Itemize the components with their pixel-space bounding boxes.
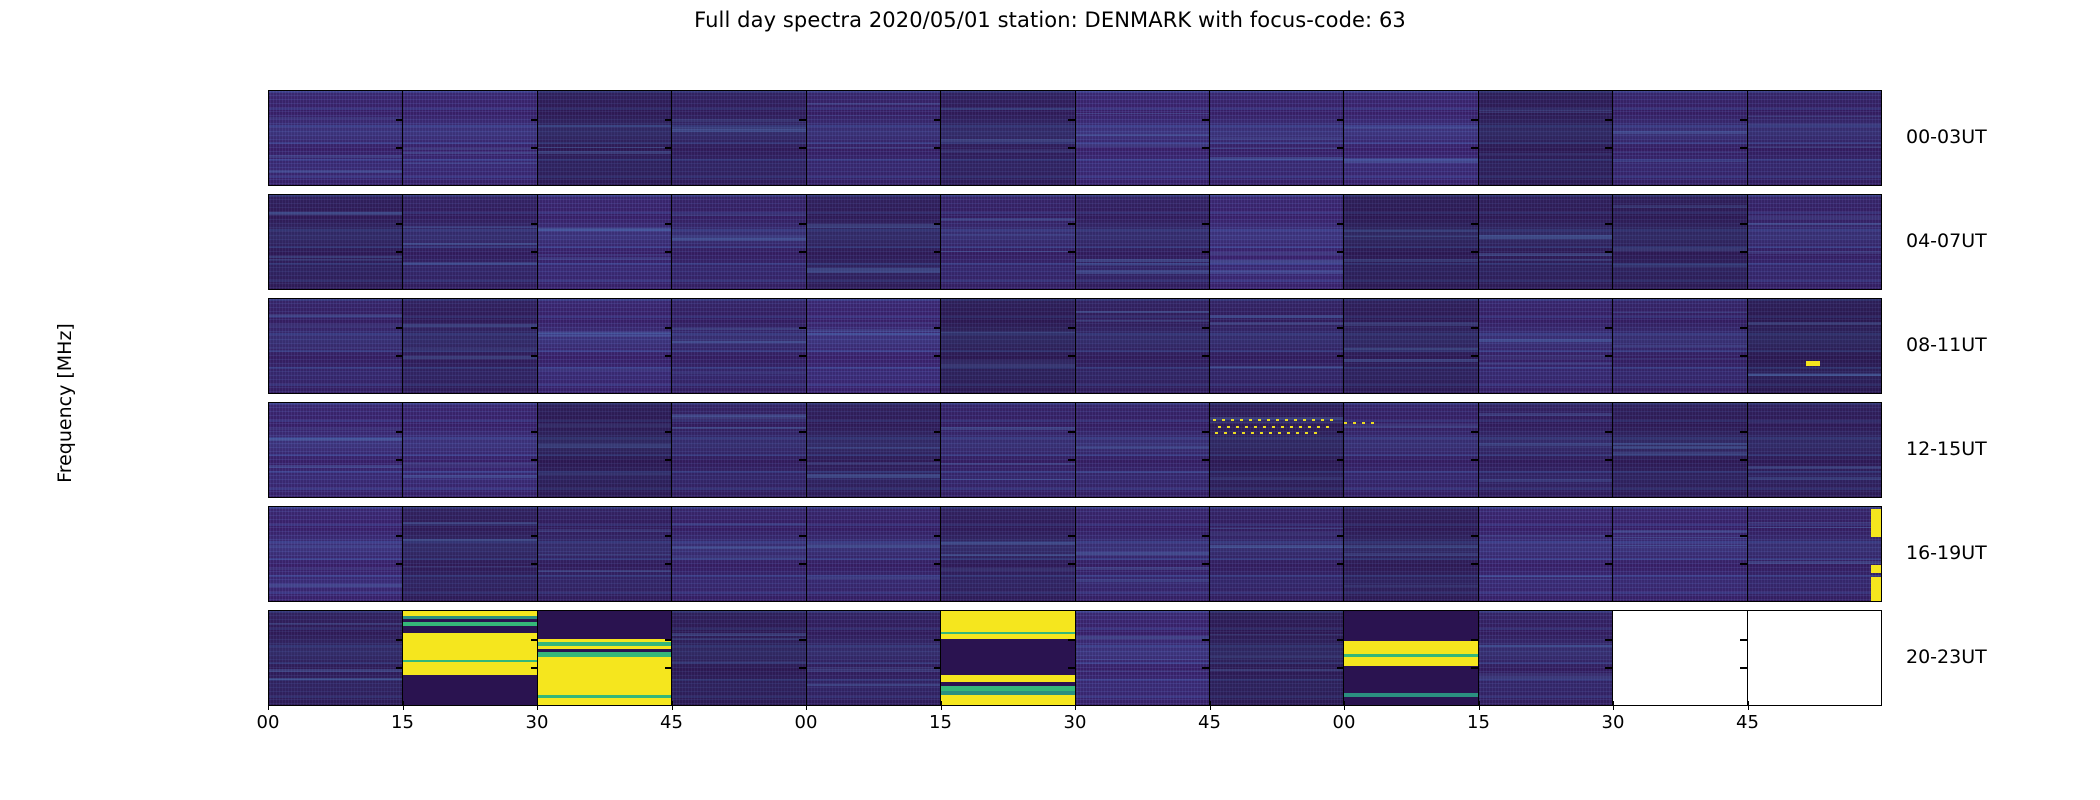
y-tick-minor	[1202, 355, 1209, 356]
y-tick-minor	[1471, 251, 1478, 252]
y-tick-minor	[531, 355, 538, 356]
spectrogram-panel	[807, 195, 941, 289]
x-tick-label: 45	[1736, 712, 1759, 733]
spectrogram-row: 8060	[268, 194, 1882, 290]
spectrogram-panel	[1076, 611, 1210, 705]
y-tick-minor	[1202, 535, 1209, 536]
y-tick-minor	[799, 667, 806, 668]
y-tick-minor	[665, 119, 672, 120]
y-tick-minor	[934, 667, 941, 668]
spectrogram-panel	[1479, 611, 1613, 705]
y-tick-minor	[1337, 119, 1344, 120]
y-tick-minor	[531, 251, 538, 252]
y-tick-minor	[1740, 327, 1747, 328]
spectrogram-panel	[1479, 507, 1613, 601]
spectrogram-panel	[538, 299, 672, 393]
saturated-signal	[1344, 611, 1477, 641]
y-tick-minor	[799, 147, 806, 148]
rfi-comb	[1213, 419, 1340, 421]
y-tick-minor	[531, 535, 538, 536]
y-tick-minor	[1740, 535, 1747, 536]
spectrogram-panel	[1613, 195, 1747, 289]
y-tick-minor	[396, 667, 403, 668]
spectrogram-noise	[269, 195, 402, 289]
spectrogram-noise	[538, 507, 671, 601]
row-label-00-03ut: 00-03UT	[1906, 126, 1987, 148]
spectrogram-panel	[269, 91, 403, 185]
y-tick-minor	[799, 251, 806, 252]
y-tick-minor	[1202, 147, 1209, 148]
y-tick-minor	[1605, 355, 1612, 356]
y-tick-minor	[665, 147, 672, 148]
spectrogram-noise	[403, 299, 536, 393]
y-tick-minor	[1202, 639, 1209, 640]
y-tick-minor	[799, 431, 806, 432]
spectrogram-panel	[941, 195, 1075, 289]
spectrogram-noise	[672, 91, 805, 185]
x-tick-label: 45	[1198, 712, 1221, 733]
y-tick-minor	[1068, 431, 1075, 432]
spectrogram-noise	[1613, 195, 1746, 289]
spectrogram-panel	[807, 611, 941, 705]
spectrogram-noise	[269, 403, 402, 497]
y-tick-minor	[1202, 223, 1209, 224]
spectrogram-panel	[538, 91, 672, 185]
y-tick-minor	[934, 431, 941, 432]
y-tick-minor	[531, 431, 538, 432]
y-tick	[268, 563, 269, 564]
spectrogram-noise	[269, 299, 402, 393]
x-tick-label: 00	[257, 712, 280, 733]
y-tick-minor	[1471, 639, 1478, 640]
row-label-12-15ut: 12-15UT	[1906, 438, 1987, 460]
spectrogram-panel	[1076, 299, 1210, 393]
spectrogram-panel	[1344, 299, 1478, 393]
y-tick	[268, 431, 269, 432]
y-tick-minor	[1605, 327, 1612, 328]
spectrogram-noise	[1076, 195, 1209, 289]
row-label-08-11ut: 08-11UT	[1906, 334, 1987, 356]
spectrogram-panel	[1076, 195, 1210, 289]
spectrogram-panel	[941, 403, 1075, 497]
page-title: Full day spectra 2020/05/01 station: DEN…	[0, 8, 2100, 32]
y-tick-minor	[396, 431, 403, 432]
spectrogram-panel	[1210, 299, 1344, 393]
y-tick-minor	[1740, 667, 1747, 668]
spectrogram-panel	[672, 299, 806, 393]
spectrogram-panel	[1210, 91, 1344, 185]
spectrogram-noise	[1210, 195, 1343, 289]
y-tick-minor	[1740, 147, 1747, 148]
y-tick-minor	[1740, 251, 1747, 252]
spectrogram-panel	[672, 507, 806, 601]
y-tick-minor	[396, 563, 403, 564]
spectrogram-noise	[1344, 403, 1477, 497]
spectrogram-panel	[538, 195, 672, 289]
spectrogram-noise	[1210, 299, 1343, 393]
y-tick-minor	[665, 667, 672, 668]
spectrogram-row: 8060	[268, 402, 1882, 498]
spectrogram-panel	[1344, 195, 1478, 289]
x-tick	[268, 701, 269, 710]
spectrogram-noise	[1748, 403, 1881, 497]
spectrogram-panel	[1210, 195, 1344, 289]
y-tick-minor	[665, 459, 672, 460]
y-tick-minor	[1605, 223, 1612, 224]
y-tick-minor	[934, 459, 941, 460]
spectrogram-panel	[1479, 403, 1613, 497]
saturated-signal	[941, 611, 1074, 639]
y-tick-minor	[1068, 667, 1075, 668]
y-tick-minor	[396, 223, 403, 224]
saturated-signal	[538, 657, 671, 695]
x-tick-label: 45	[660, 712, 683, 733]
spectrogram-noise	[1613, 403, 1746, 497]
y-tick-minor	[799, 223, 806, 224]
x-tick	[806, 701, 807, 710]
spectrogram-panel	[538, 611, 672, 705]
spectrogram-noise	[1479, 299, 1612, 393]
y-tick	[268, 223, 269, 224]
spectrogram-panel	[941, 299, 1075, 393]
y-tick-minor	[1068, 251, 1075, 252]
y-tick-minor	[799, 327, 806, 328]
saturated-signal	[941, 695, 1074, 705]
spectrogram-panel	[672, 195, 806, 289]
spectrogram-noise	[1479, 611, 1612, 705]
y-tick-minor	[1337, 639, 1344, 640]
y-tick-minor	[934, 251, 941, 252]
spectrogram-noise	[1748, 507, 1881, 601]
spectrogram-row: 8060	[268, 90, 1882, 186]
row-label-16-19ut: 16-19UT	[1906, 542, 1987, 564]
y-tick	[268, 639, 269, 640]
y-tick-minor	[934, 223, 941, 224]
y-tick-minor	[1068, 147, 1075, 148]
y-tick-minor	[665, 223, 672, 224]
spectrogram-panel	[403, 91, 537, 185]
spectrogram-panel	[1748, 403, 1881, 497]
spectrogram-noise	[672, 611, 805, 705]
spectrogram-noise	[1076, 507, 1209, 601]
y-tick-minor	[531, 639, 538, 640]
spectrogram-noise	[269, 91, 402, 185]
spectrogram-noise	[1613, 507, 1746, 601]
y-tick-minor	[1337, 355, 1344, 356]
rfi-comb	[1215, 432, 1322, 434]
spectrogram-noise	[1613, 299, 1746, 393]
x-tick	[537, 701, 538, 710]
y-tick-minor	[1337, 327, 1344, 328]
x-tick	[672, 701, 673, 710]
y-tick-minor	[799, 459, 806, 460]
y-tick-minor	[1337, 535, 1344, 536]
spectrogram-noise	[941, 403, 1074, 497]
spectrogram-panel	[941, 611, 1075, 705]
y-tick-minor	[1471, 459, 1478, 460]
y-tick-minor	[934, 147, 941, 148]
y-tick-minor	[1740, 431, 1747, 432]
y-axis-label: Frequency [MHz]	[54, 233, 76, 573]
y-tick-minor	[1605, 119, 1612, 120]
spectrogram-noise	[807, 91, 940, 185]
x-tick-label: 15	[929, 712, 952, 733]
spectrogram-panel	[1748, 195, 1881, 289]
y-tick-minor	[1740, 355, 1747, 356]
saturated-signal	[538, 698, 671, 705]
y-tick-minor	[531, 459, 538, 460]
y-tick	[268, 119, 269, 120]
y-tick-minor	[531, 327, 538, 328]
y-tick-minor	[1202, 431, 1209, 432]
y-tick-minor	[1740, 639, 1747, 640]
y-tick-minor	[531, 667, 538, 668]
y-tick-minor	[665, 251, 672, 252]
y-tick-minor	[396, 327, 403, 328]
spectrogram-noise	[403, 91, 536, 185]
spectrogram-noise	[1210, 403, 1343, 497]
spectrogram-panel	[1748, 91, 1881, 185]
y-tick-minor	[1605, 251, 1612, 252]
y-tick-minor	[396, 251, 403, 252]
spectrogram-panel	[1210, 611, 1344, 705]
spectrogram-noise	[538, 91, 671, 185]
y-tick-minor	[1740, 223, 1747, 224]
y-tick-minor	[1202, 327, 1209, 328]
saturated-signal	[1344, 697, 1477, 705]
y-tick-minor	[1471, 431, 1478, 432]
saturated-signal	[941, 675, 1074, 683]
saturated-signal	[941, 632, 1074, 635]
y-tick-minor	[1068, 535, 1075, 536]
y-tick-minor	[1740, 563, 1747, 564]
spectrogram-noise	[1076, 299, 1209, 393]
y-tick-minor	[1471, 327, 1478, 328]
y-tick-minor	[665, 535, 672, 536]
y-tick	[268, 667, 269, 668]
y-tick	[268, 459, 269, 460]
y-tick-minor	[934, 327, 941, 328]
spectrogram-panel	[1613, 91, 1747, 185]
x-tick	[1344, 701, 1345, 710]
saturated-signal	[538, 611, 671, 639]
y-tick	[268, 251, 269, 252]
spectrogram-noise	[403, 403, 536, 497]
y-tick-minor	[934, 119, 941, 120]
x-tick-label: 00	[795, 712, 818, 733]
spectrogram-panel	[269, 403, 403, 497]
spectrogram-noise	[807, 195, 940, 289]
spectrogram-noise	[941, 507, 1074, 601]
spectrogram-panel	[941, 507, 1075, 601]
x-tick	[1210, 701, 1211, 710]
spectrogram-panel	[269, 299, 403, 393]
saturated-signal	[1871, 577, 1881, 601]
y-tick-minor	[531, 223, 538, 224]
spectrogram-panel	[1210, 507, 1344, 601]
y-tick-minor	[1471, 223, 1478, 224]
spectrogram-panel	[269, 195, 403, 289]
y-tick-minor	[799, 535, 806, 536]
y-tick	[268, 355, 269, 356]
y-tick-minor	[799, 563, 806, 564]
spectrogram-noise	[1344, 91, 1477, 185]
spectrogram-noise	[672, 507, 805, 601]
y-tick-minor	[1471, 355, 1478, 356]
spectrogram-panel	[403, 299, 537, 393]
spectrogram-panel	[269, 611, 403, 705]
y-tick-minor	[1471, 147, 1478, 148]
spectrogram-panel	[403, 195, 537, 289]
y-tick-minor	[934, 355, 941, 356]
spectrogram-noise	[807, 403, 940, 497]
spectrogram-noise	[807, 611, 940, 705]
x-tick	[1479, 701, 1480, 710]
spectrogram-noise	[1479, 507, 1612, 601]
y-tick	[268, 327, 269, 328]
spectrogram-panel	[672, 611, 806, 705]
y-tick-minor	[1337, 563, 1344, 564]
y-tick-minor	[1471, 119, 1478, 120]
x-tick-label: 30	[1064, 712, 1087, 733]
y-tick-minor	[1605, 459, 1612, 460]
spectrogram-noise	[1613, 91, 1746, 185]
spectrogram-noise	[1748, 299, 1881, 393]
y-tick	[268, 147, 269, 148]
row-label-04-07ut: 04-07UT	[1906, 230, 1987, 252]
y-tick-minor	[1605, 147, 1612, 148]
spectrogram-panel	[1613, 507, 1747, 601]
y-tick-minor	[799, 119, 806, 120]
spectrogram-panel	[1076, 91, 1210, 185]
y-tick-minor	[1605, 639, 1612, 640]
y-tick-minor	[799, 355, 806, 356]
spectrogram-panel	[1479, 91, 1613, 185]
saturated-signal	[1806, 361, 1819, 366]
spectrogram-noise	[269, 507, 402, 601]
x-tick-label: 15	[391, 712, 414, 733]
spectrogram-panel	[807, 507, 941, 601]
y-tick-minor	[1337, 667, 1344, 668]
saturated-signal	[403, 662, 536, 675]
y-tick-minor	[665, 431, 672, 432]
spectrogram-grid: 806000-03UT806004-07UT806008-11UT806012-…	[268, 90, 1882, 710]
y-tick-minor	[1471, 667, 1478, 668]
x-tick	[1748, 701, 1749, 710]
y-tick-minor	[1471, 535, 1478, 536]
spectrogram-noise	[1748, 195, 1881, 289]
spectrogram-noise	[941, 91, 1074, 185]
y-tick-minor	[1068, 563, 1075, 564]
x-tick-label: 30	[526, 712, 549, 733]
y-tick-minor	[1202, 667, 1209, 668]
x-tick	[403, 701, 404, 710]
y-tick-minor	[1202, 459, 1209, 460]
spectrogram-noise	[1344, 299, 1477, 393]
spectrogram-noise	[672, 299, 805, 393]
y-tick-minor	[396, 119, 403, 120]
spectrogram-row: 8060	[268, 298, 1882, 394]
y-tick-minor	[396, 535, 403, 536]
spectrogram-noise	[403, 195, 536, 289]
spectrogram-noise	[1076, 611, 1209, 705]
x-axis: 001530450015304500153045	[268, 710, 1882, 750]
y-tick-minor	[1740, 459, 1747, 460]
y-tick-minor	[665, 563, 672, 564]
spectrogram-panel	[538, 507, 672, 601]
y-tick-minor	[934, 639, 941, 640]
spectrogram-noise	[1210, 611, 1343, 705]
y-tick-minor	[531, 563, 538, 564]
x-tick	[1075, 701, 1076, 710]
y-tick-minor	[1068, 119, 1075, 120]
y-tick-minor	[799, 639, 806, 640]
y-tick-minor	[396, 147, 403, 148]
y-tick-minor	[1605, 563, 1612, 564]
y-tick-minor	[1337, 147, 1344, 148]
spectrogram-noise	[1479, 403, 1612, 497]
spectrogram-panel	[1210, 403, 1344, 497]
spectrogram-noise	[1210, 91, 1343, 185]
spectrogram-panel	[269, 507, 403, 601]
spectrogram-panel	[1613, 299, 1747, 393]
saturated-signal	[941, 639, 1074, 675]
x-tick-label: 15	[1467, 712, 1490, 733]
x-tick-label: 30	[1602, 712, 1625, 733]
spectrogram-row: 8060	[268, 610, 1882, 706]
rfi-comb	[1218, 426, 1335, 428]
spectrogram-panel	[1076, 403, 1210, 497]
y-tick-minor	[531, 119, 538, 120]
y-tick-minor	[1068, 223, 1075, 224]
y-tick-minor	[665, 355, 672, 356]
spectrogram-panel	[807, 91, 941, 185]
spectrogram-panel	[1479, 195, 1613, 289]
x-tick	[1613, 701, 1614, 710]
y-tick-minor	[531, 147, 538, 148]
y-tick-minor	[1202, 251, 1209, 252]
y-tick-minor	[1068, 355, 1075, 356]
saturated-signal	[1344, 641, 1477, 654]
spectrogram-panel	[1076, 507, 1210, 601]
row-label-20-23ut: 20-23UT	[1906, 646, 1987, 668]
y-tick-minor	[1605, 431, 1612, 432]
y-tick	[268, 535, 269, 536]
y-tick-minor	[396, 355, 403, 356]
spectrogram-noise	[1479, 195, 1612, 289]
spectrogram-panel	[807, 403, 941, 497]
spectrogram-noise	[1479, 91, 1612, 185]
y-tick-minor	[1202, 119, 1209, 120]
spectrogram-noise	[538, 195, 671, 289]
spectrogram-panel	[1344, 403, 1478, 497]
spectrogram-panel	[403, 403, 537, 497]
saturated-signal	[1344, 666, 1477, 692]
spectrogram-panel	[403, 507, 537, 601]
y-tick-minor	[1471, 563, 1478, 564]
y-tick-minor	[1337, 459, 1344, 460]
y-tick-minor	[1740, 119, 1747, 120]
spectrogram-noise	[1344, 507, 1477, 601]
y-tick-minor	[1337, 251, 1344, 252]
spectrogram-noise	[538, 299, 671, 393]
spectrogram-noise	[807, 299, 940, 393]
spectrogram-noise	[672, 195, 805, 289]
spectrogram-noise	[941, 299, 1074, 393]
spectrogram-panel	[1748, 611, 1881, 705]
y-tick-minor	[934, 535, 941, 536]
rfi-comb	[1344, 422, 1379, 424]
